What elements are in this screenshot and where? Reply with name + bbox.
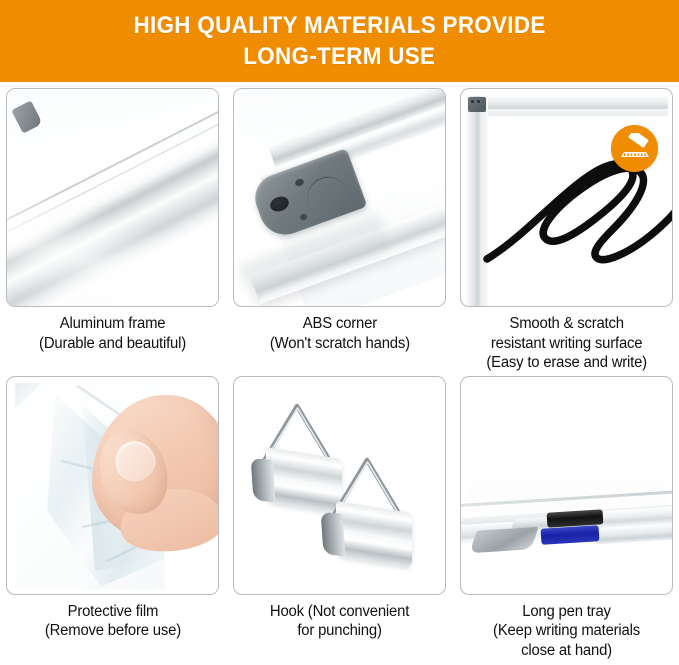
banner-title-line-1: HIGH QUALITY MATERIALS PROVIDE — [133, 10, 545, 41]
feature-cell-writing-surface: Smooth & scratch resistant writing surfa… — [460, 88, 673, 376]
marker-eraser-badge — [611, 125, 658, 172]
board-corner-clip — [468, 97, 486, 112]
hook-clip-end-upper — [251, 457, 276, 501]
aluminum-frame-illustration — [7, 89, 218, 306]
board-frame-top — [467, 96, 668, 109]
caption-pen-tray: Long pen tray (Keep writing materials cl… — [493, 602, 640, 661]
abs-corner-illustration — [234, 89, 445, 306]
photo-abs-corner — [233, 88, 446, 307]
feature-cell-abs-corner: ABS corner (Won't scratch hands) — [233, 88, 446, 376]
photo-protective-film — [6, 376, 219, 595]
board-frame-left — [467, 96, 482, 306]
pen-tray-illustration — [461, 377, 672, 594]
header-banner: HIGH QUALITY MATERIALS PROVIDE LONG-TERM… — [0, 0, 679, 82]
feature-cell-pen-tray: Long pen tray (Keep writing materials cl… — [460, 376, 673, 664]
hook-clip-end-lower — [321, 511, 346, 555]
photo-writing-surface — [460, 88, 673, 307]
pen-tray-end-cap — [469, 526, 538, 552]
hook-clip-body-lower — [336, 500, 412, 567]
photo-hook — [233, 376, 446, 595]
caption-writing-surface: Smooth & scratch resistant writing surfa… — [486, 314, 647, 373]
feature-cell-protective-film: Protective film (Remove before use) — [6, 376, 219, 664]
feature-cell-hook: Hook (Not convenient for punching) — [233, 376, 446, 664]
feature-cell-aluminum-frame: Aluminum frame (Durable and beautiful) — [6, 88, 219, 376]
caption-hook: Hook (Not convenient for punching) — [270, 602, 409, 641]
board-frame-top-inner — [467, 109, 668, 116]
writing-surface-illustration — [461, 89, 672, 306]
photo-aluminum-frame — [6, 88, 219, 307]
infographic-page: HIGH QUALITY MATERIALS PROVIDE LONG-TERM… — [0, 0, 679, 665]
blue-marker-cap — [541, 525, 600, 545]
caption-protective-film: Protective film (Remove before use) — [44, 602, 180, 641]
hook-illustration — [234, 377, 445, 594]
feature-grid: Aluminum frame (Durable and beautiful) — [0, 82, 679, 665]
caption-abs-corner: ABS corner (Won't scratch hands) — [270, 314, 410, 353]
caption-aluminum-frame: Aluminum frame (Durable and beautiful) — [39, 314, 186, 353]
protective-film-illustration — [7, 377, 218, 594]
marker-eraser-icon — [618, 133, 652, 165]
banner-title-line-2: LONG-TERM USE — [243, 41, 435, 72]
photo-pen-tray — [460, 376, 673, 595]
